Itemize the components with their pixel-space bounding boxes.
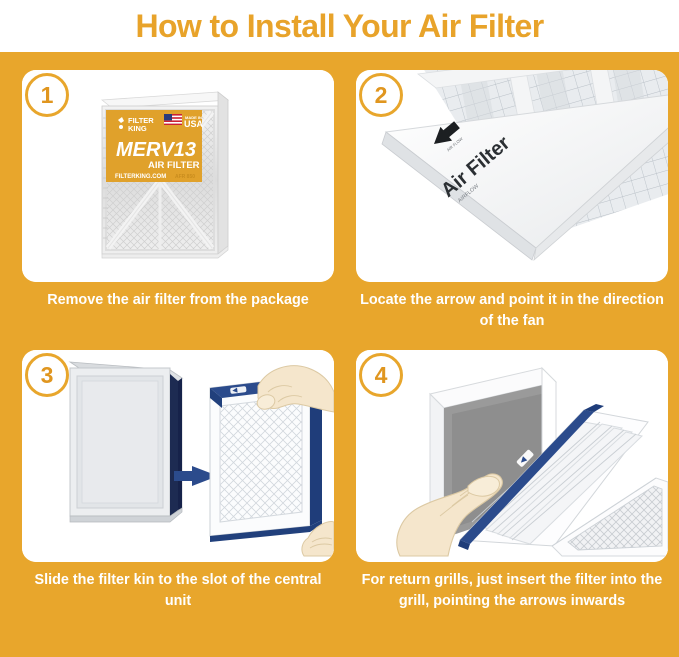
product-code-text: AFR 850 bbox=[175, 174, 195, 180]
step-2-illustration: Air Filter AIRFLOW AIR FLOW bbox=[356, 70, 668, 282]
step-1: FILTER KING MADE IN bbox=[22, 70, 334, 311]
page-title: How to Install Your Air Filter bbox=[135, 8, 543, 45]
merv-rating-text: MERV13 bbox=[116, 139, 196, 161]
step-4-card: 4 bbox=[356, 350, 668, 562]
step-4-number-badge: 4 bbox=[359, 353, 403, 397]
steps-grid: FILTER KING MADE IN bbox=[0, 52, 679, 657]
step-2: Air Filter AIRFLOW AIR FLOW 2 Locate bbox=[356, 70, 668, 332]
product-type-text: AIR FILTER bbox=[148, 160, 200, 171]
website-text: FILTERKING.COM bbox=[115, 174, 166, 180]
step-1-card: FILTER KING MADE IN bbox=[22, 70, 334, 282]
step-3-illustration bbox=[22, 350, 334, 562]
step-3-card: 3 bbox=[22, 350, 334, 562]
step-3-number-badge: 3 bbox=[25, 353, 69, 397]
infographic-poster: How to Install Your Air Filter bbox=[0, 0, 679, 657]
title-band: How to Install Your Air Filter bbox=[0, 0, 679, 52]
step-2-card: Air Filter AIRFLOW AIR FLOW 2 bbox=[356, 70, 668, 282]
step-1-illustration: FILTER KING MADE IN bbox=[22, 70, 334, 282]
step-4-caption: For return grills, just insert the filte… bbox=[356, 570, 668, 612]
svg-text:USA: USA bbox=[184, 119, 204, 129]
step-2-caption: Locate the arrow and point it in the dir… bbox=[356, 290, 668, 332]
step-2-number-badge: 2 bbox=[359, 73, 403, 117]
step-3: 3 Slide the filter kin to the slot of th… bbox=[22, 350, 334, 612]
step-3-caption: Slide the filter kin to the slot of the … bbox=[22, 570, 334, 612]
step-1-caption: Remove the air filter from the package bbox=[22, 290, 334, 311]
step-4: 4 For return grills, just insert the fil… bbox=[356, 350, 668, 612]
step-1-number-badge: 1 bbox=[25, 73, 69, 117]
step-4-illustration bbox=[356, 350, 668, 562]
svg-text:KING: KING bbox=[128, 124, 147, 133]
